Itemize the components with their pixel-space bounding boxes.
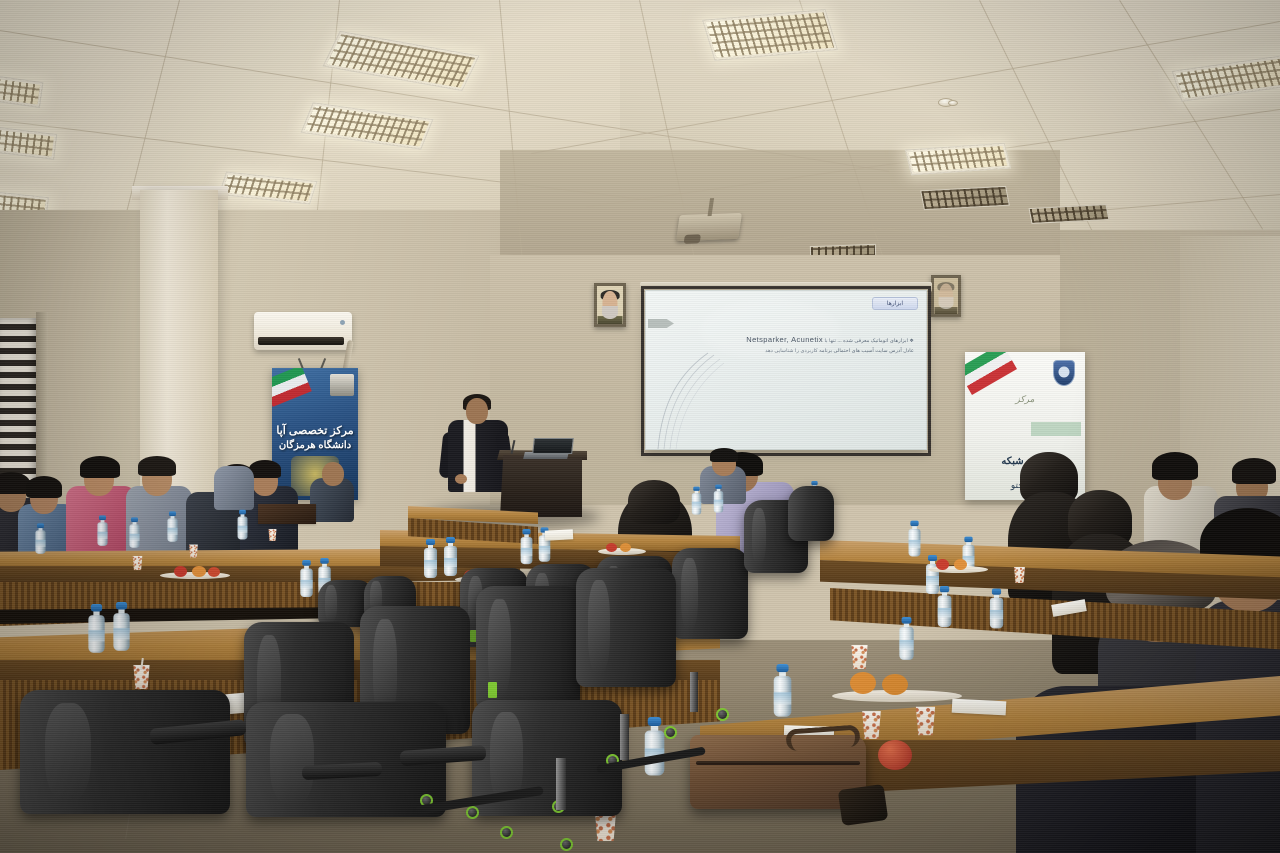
police-shield-emblem-icon bbox=[1053, 360, 1075, 386]
water-bottle[interactable] bbox=[88, 605, 104, 653]
ac-led-icon bbox=[340, 320, 345, 325]
water-bottle[interactable] bbox=[909, 522, 921, 557]
water-bottle[interactable] bbox=[645, 719, 665, 776]
chair-gas-cylinder bbox=[620, 714, 629, 760]
slide-arrow-shape bbox=[648, 319, 674, 328]
attendee-chador-woman-head bbox=[628, 480, 680, 524]
water-bottle[interactable] bbox=[990, 590, 1003, 629]
apple-icon bbox=[208, 567, 220, 577]
chair-gas-cylinder bbox=[556, 758, 566, 810]
bag-handle bbox=[785, 724, 860, 751]
attendee-behind-column bbox=[214, 466, 254, 510]
portrait-khomeini bbox=[931, 275, 961, 317]
attendee-grey-shirt-hair bbox=[138, 456, 176, 476]
banner-left-line1: مرکز تخصصی آپا bbox=[272, 424, 358, 437]
laptop-screen bbox=[532, 438, 574, 454]
iran-flag-icon bbox=[965, 352, 1017, 395]
podium bbox=[500, 455, 582, 517]
chair-gas-cylinder bbox=[690, 672, 698, 712]
attendee-far-back-left-head bbox=[322, 462, 344, 486]
slide-bullet-marker: ❖ bbox=[909, 338, 914, 344]
slide-title: ابزارها bbox=[872, 297, 918, 310]
attendee-far-right-hair bbox=[1232, 458, 1276, 484]
water-bottle[interactable] bbox=[774, 665, 792, 716]
bag-zipper bbox=[696, 761, 860, 765]
water-bottle[interactable] bbox=[35, 524, 45, 554]
portrait-khamenei bbox=[594, 283, 626, 327]
banner-left-line2: دانشگاه هرمزگان bbox=[272, 440, 358, 451]
orange-icon bbox=[850, 672, 876, 694]
document-folder[interactable] bbox=[258, 504, 316, 524]
water-bottle[interactable] bbox=[167, 512, 177, 542]
air-conditioner-unit bbox=[254, 312, 352, 350]
attendee-pink-shirt-hair bbox=[80, 456, 120, 478]
water-bottle[interactable] bbox=[129, 518, 139, 548]
banner-right-accent-bar bbox=[1031, 422, 1081, 436]
banner-right-line1: مرکز bbox=[965, 394, 1085, 405]
apple-icon bbox=[174, 566, 187, 577]
banner-photo-tile bbox=[330, 374, 354, 396]
office-chair[interactable] bbox=[672, 548, 748, 668]
attendee-back-row-center-hair bbox=[710, 448, 738, 462]
apple-icon bbox=[606, 543, 617, 552]
water-bottle[interactable] bbox=[692, 487, 701, 514]
office-chair[interactable] bbox=[472, 700, 622, 853]
presenter-hand bbox=[455, 474, 467, 484]
water-bottle[interactable] bbox=[300, 561, 312, 597]
window-frame bbox=[36, 312, 48, 498]
orange-icon bbox=[882, 674, 908, 695]
slide-swirl-decoration bbox=[654, 349, 724, 449]
apple-icon bbox=[878, 740, 912, 770]
chair-caster bbox=[466, 806, 479, 819]
water-bottle[interactable] bbox=[444, 538, 457, 576]
slide-line-1: ابزارهای اتوماتیک معرفی شده ... تنها با bbox=[825, 338, 908, 344]
water-bottle[interactable] bbox=[714, 485, 723, 512]
presenter-head bbox=[466, 398, 488, 424]
water-bottle[interactable] bbox=[521, 530, 533, 564]
orange-icon bbox=[954, 559, 967, 570]
screen-glare bbox=[700, 300, 840, 360]
smoke-detector-icon bbox=[948, 100, 958, 106]
attendee-man-back-right-hair bbox=[1152, 452, 1198, 480]
chair-caster bbox=[664, 726, 677, 739]
water-bottle[interactable] bbox=[113, 603, 129, 651]
window-blinds[interactable] bbox=[0, 318, 38, 494]
attendee-blue-shirt-hair bbox=[26, 476, 62, 498]
water-bottle[interactable] bbox=[424, 540, 437, 578]
conference-hall-photo: ابزارها ❖ ابزارهای اتوماتیک معرفی شده ..… bbox=[0, 0, 1280, 853]
office-chair[interactable] bbox=[788, 486, 834, 558]
orange-icon bbox=[192, 566, 206, 577]
ac-vent bbox=[258, 337, 344, 345]
office-chair[interactable] bbox=[20, 690, 230, 853]
orange-icon bbox=[620, 543, 631, 552]
iran-flag-icon bbox=[272, 368, 312, 407]
document-sheet[interactable] bbox=[545, 529, 573, 540]
chair-caster bbox=[716, 708, 729, 721]
ceiling-projector bbox=[676, 213, 742, 241]
chair-caster bbox=[560, 838, 573, 851]
bag-strap bbox=[838, 784, 889, 826]
chair-caster bbox=[500, 826, 513, 839]
document-sheet[interactable] bbox=[952, 699, 1007, 716]
apple-icon bbox=[936, 559, 949, 570]
leather-bag[interactable] bbox=[690, 735, 866, 809]
water-bottle[interactable] bbox=[938, 587, 952, 627]
water-bottle[interactable] bbox=[97, 516, 107, 546]
water-bottle[interactable] bbox=[899, 618, 913, 660]
water-bottle[interactable] bbox=[238, 511, 248, 540]
